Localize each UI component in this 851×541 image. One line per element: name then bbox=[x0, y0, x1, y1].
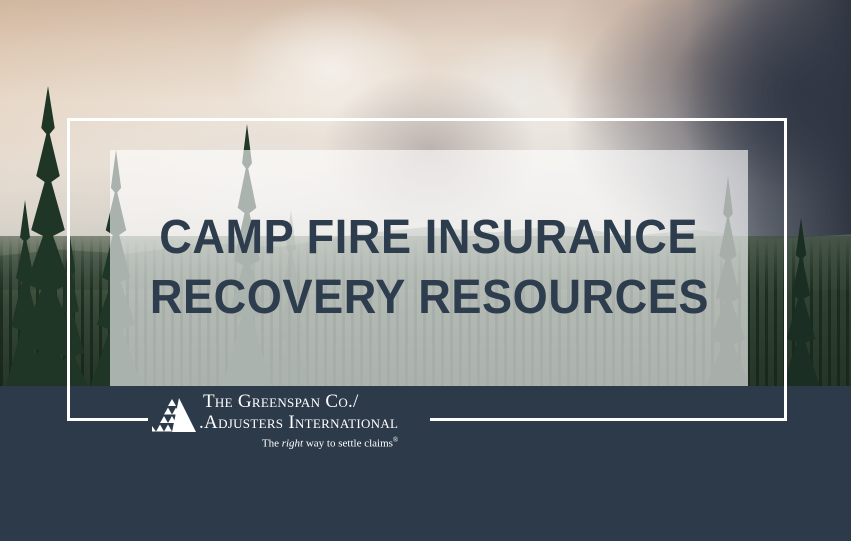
company-logo: The Greenspan Co./ .Adjusters Internatio… bbox=[152, 392, 398, 451]
page-title: CAMP FIRE INSURANCE RECOVERY RESOURCES bbox=[110, 150, 748, 386]
footer-navy-band bbox=[0, 386, 851, 541]
tagline-emphasis: right bbox=[282, 438, 303, 450]
tagline-pre: The bbox=[262, 438, 282, 450]
registered-mark-icon: ® bbox=[393, 436, 398, 444]
logo-line-2: .Adjusters International bbox=[199, 413, 398, 434]
logo-tagline: The right way to settle claims® bbox=[203, 436, 398, 451]
logo-wordmark: The Greenspan Co./ .Adjusters Internatio… bbox=[203, 392, 398, 451]
headline-line-1: CAMP FIRE INSURANCE bbox=[160, 211, 699, 265]
logo-line-1: The Greenspan Co./ bbox=[203, 392, 398, 413]
tagline-post: way to settle claims bbox=[303, 438, 393, 450]
headline-line-2: RECOVERY RESOURCES bbox=[149, 271, 708, 325]
camp-fire-insurance-banner: CAMP FIRE INSURANCE RECOVERY RESOURCES bbox=[0, 0, 851, 541]
greenspan-mountain-logo-icon bbox=[152, 396, 196, 434]
